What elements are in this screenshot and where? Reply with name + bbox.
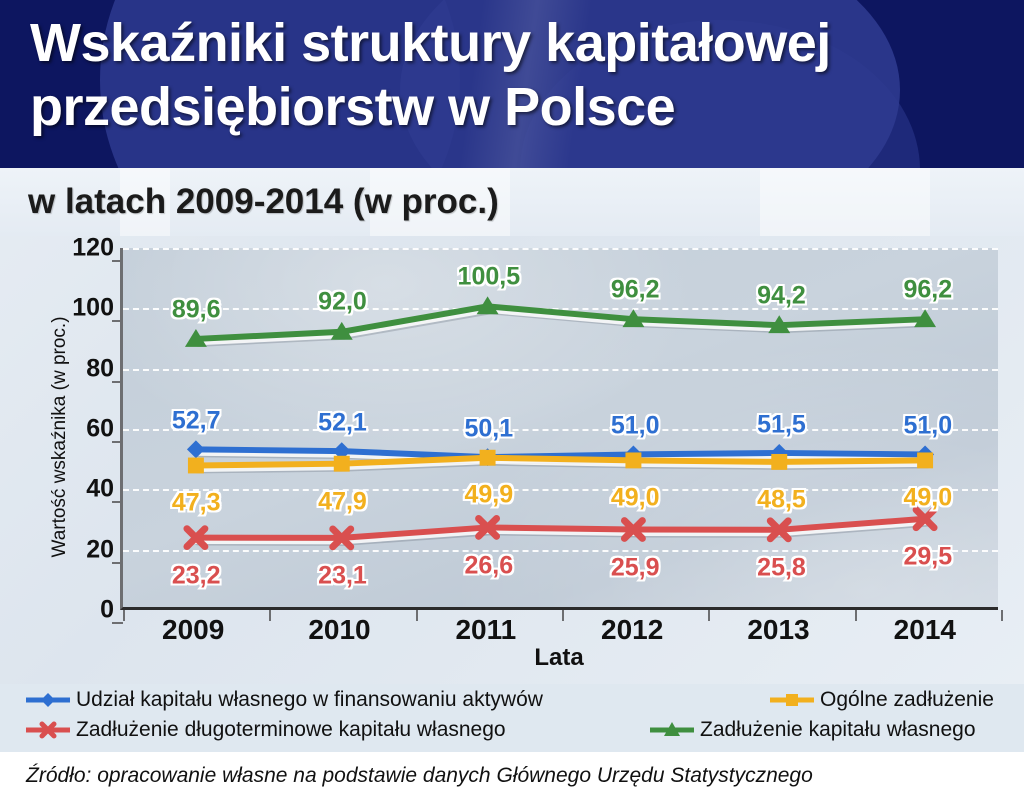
legend-item[interactable]: Ogólne zadłużenie (770, 688, 994, 712)
legend-item[interactable]: Zadłużenie długoterminowe kapitału własn… (26, 718, 506, 742)
chart-container: Wartość wskaźnika (w proc.) 020406080100… (0, 236, 1024, 680)
x-tick-label: 2014 (850, 614, 1000, 646)
data-point-marker (917, 452, 933, 468)
y-tick-mark (112, 562, 123, 564)
data-label: 100,5 (458, 262, 521, 291)
title-banner: Wskaźniki struktury kapitałowej przedsię… (0, 0, 1024, 168)
data-label: 89,6 (172, 295, 221, 324)
series-3 (187, 510, 934, 547)
data-label: 50,1 (464, 414, 513, 443)
chart-legend: Udział kapitału własnego w finansowaniu … (0, 684, 1024, 752)
x-tick-label: 2013 (704, 614, 854, 646)
y-tick-label: 0 (42, 596, 114, 625)
x-tick-label: 2009 (118, 614, 268, 646)
legend-marker-cross-icon (26, 719, 70, 741)
x-axis-title: Lata (120, 644, 998, 672)
legend-marker-square-icon (770, 689, 814, 711)
series-4 (185, 296, 936, 346)
data-point-marker (188, 458, 204, 474)
y-tick-mark (112, 260, 123, 262)
x-tick-label: 2012 (557, 614, 707, 646)
legend-marker-diamond-icon (26, 689, 70, 711)
legend-marker-triangle-icon (650, 719, 694, 741)
y-tick-mark (112, 320, 123, 322)
legend-item-label: Udział kapitału własnego w finansowaniu … (76, 688, 543, 712)
x-tick-mark (1001, 610, 1003, 621)
data-label: 48,5 (757, 485, 806, 514)
y-tick-label: 100 (42, 294, 114, 323)
y-tick-label: 40 (42, 475, 114, 504)
data-label: 51,0 (611, 412, 660, 441)
legend-item-label: Zadłużenie długoterminowe kapitału własn… (76, 718, 506, 742)
data-label: 49,9 (464, 481, 513, 510)
data-label: 26,6 (464, 551, 513, 580)
data-label: 47,3 (172, 489, 221, 518)
legend-item[interactable]: Udział kapitału własnego w finansowaniu … (26, 688, 543, 712)
data-label: 49,0 (903, 484, 952, 513)
data-label: 47,9 (318, 487, 367, 516)
data-label: 49,0 (611, 484, 660, 513)
data-point-marker (480, 450, 496, 466)
data-label: 51,0 (903, 412, 952, 441)
data-point-marker (625, 452, 641, 468)
data-point-marker (334, 456, 350, 472)
page-subtitle: w latach 2009-2014 (w proc.) (28, 182, 499, 222)
y-tick-label: 20 (42, 535, 114, 564)
data-label: 96,2 (903, 275, 952, 304)
source-note: Źródło: opracowanie własne na podstawie … (26, 764, 813, 788)
legend-item-label: Ogólne zadłużenie (820, 688, 994, 712)
legend-item[interactable]: Zadłużenie kapitału własnego (650, 718, 976, 742)
data-label: 92,0 (318, 288, 367, 317)
y-tick-label: 60 (42, 415, 114, 444)
page-title: Wskaźniki struktury kapitałowej przedsię… (30, 12, 990, 139)
data-label: 52,7 (172, 407, 221, 436)
x-tick-label: 2011 (411, 614, 561, 646)
y-tick-mark (112, 501, 123, 503)
y-tick-mark (112, 441, 123, 443)
legend-item-label: Zadłużenie kapitału własnego (700, 718, 976, 742)
x-axis-tick-labels: 200920102011201220132014 (120, 614, 998, 648)
data-label: 96,2 (611, 275, 660, 304)
data-label: 23,2 (172, 562, 221, 591)
data-label: 25,9 (611, 553, 660, 582)
y-tick-label: 120 (42, 234, 114, 263)
series-lines-layer (123, 248, 998, 607)
data-label: 23,1 (318, 562, 367, 591)
y-axis-tick-labels: 020406080100120 (38, 236, 114, 680)
infographic-root: Wskaźniki struktury kapitałowej przedsię… (0, 0, 1024, 805)
data-label: 94,2 (757, 281, 806, 310)
x-tick-label: 2010 (265, 614, 415, 646)
y-tick-mark (112, 381, 123, 383)
subtitle-ray-decoration-3 (760, 168, 930, 236)
data-label: 25,8 (757, 554, 806, 583)
data-point-marker (771, 454, 787, 470)
plot-area: 52,752,150,151,051,551,047,347,949,949,0… (120, 248, 998, 610)
y-tick-label: 80 (42, 354, 114, 383)
data-label: 29,5 (903, 543, 952, 572)
data-label: 51,5 (757, 410, 806, 439)
data-label: 52,1 (318, 408, 367, 437)
